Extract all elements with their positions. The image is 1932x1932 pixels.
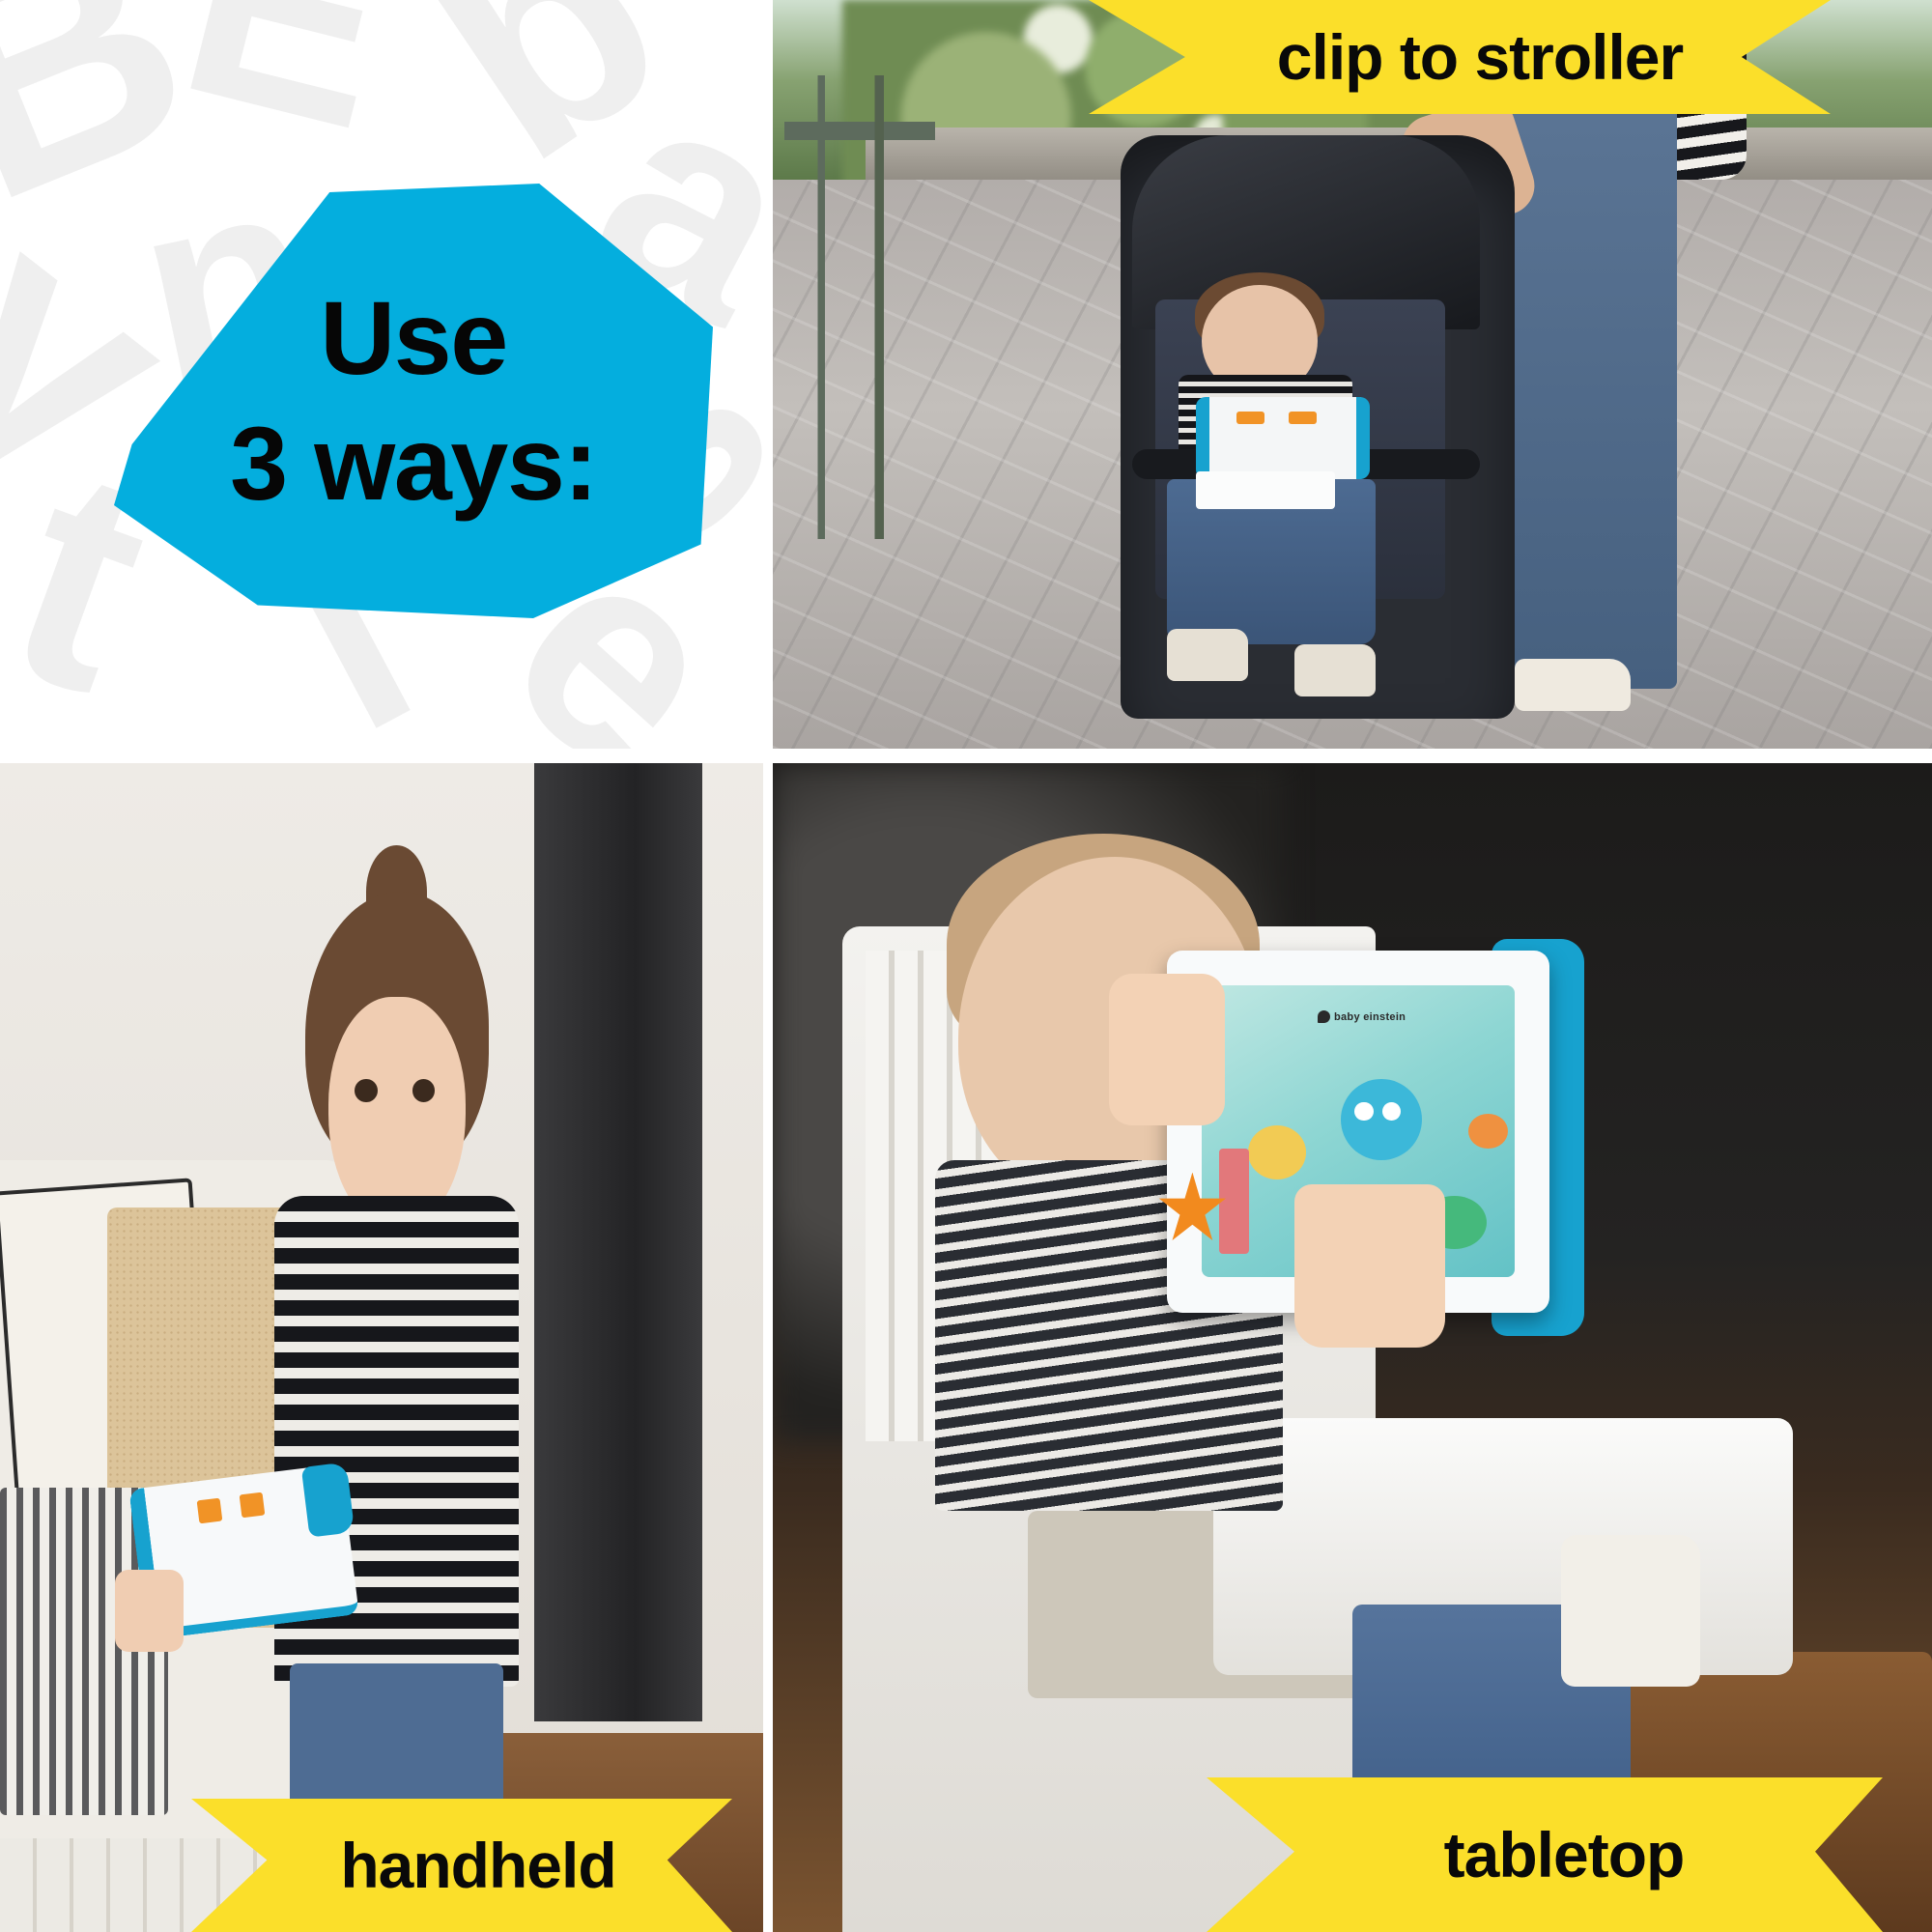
toddler-eye-left: [355, 1079, 378, 1102]
toy-stroller-clip: [1196, 471, 1335, 509]
octopus-eye-left: [1354, 1102, 1373, 1121]
screen-orange-fish-icon: [1468, 1114, 1508, 1149]
toddler-eye-right: [412, 1079, 436, 1102]
baby-shoe: [1561, 1535, 1700, 1687]
badge-handheld: handheld: [191, 1799, 732, 1932]
intro-callout: Use 3 ways:: [114, 184, 713, 618]
handheld-photo: [0, 763, 763, 1932]
toy-button-right: [239, 1492, 264, 1519]
baby-hand-on-screen: [1294, 1184, 1445, 1348]
collage-canvas: B E b a y n s t i e Use 3 ways:: [0, 0, 1932, 1932]
intro-headline: Use 3 ways:: [114, 184, 713, 618]
badge-clip-to-stroller: clip to stroller: [1089, 0, 1831, 114]
baby-einstein-logo-icon: [1318, 1010, 1330, 1023]
baby-hand-on-handle: [1109, 974, 1225, 1125]
toy-button-right: [1289, 412, 1317, 423]
badge-tabletop: tabletop: [1207, 1777, 1883, 1932]
toddler-shoe-right: [1294, 644, 1376, 696]
headline-line-2: 3 ways:: [230, 412, 597, 516]
screen-yellow-fish-icon: [1248, 1125, 1306, 1179]
toy-button-left: [197, 1498, 222, 1524]
toy-button-left: [1236, 412, 1264, 423]
panel-intro: B E b a y n s t i e Use 3 ways:: [0, 0, 763, 749]
dark-curtain: [534, 763, 702, 1721]
brand-name: baby einstein: [1334, 1011, 1406, 1023]
metal-railing: [784, 75, 935, 540]
product-toy: [1196, 397, 1370, 479]
adult-shoe: [1515, 659, 1631, 711]
brand-logo: baby einstein: [1318, 1002, 1434, 1032]
pattern-letter: E: [168, 0, 412, 146]
headline-line-1: Use: [320, 286, 507, 390]
screen-coral-icon: [1219, 1149, 1249, 1254]
tabletop-photo: baby einstein: [773, 763, 1932, 1932]
toddler-hand: [115, 1570, 184, 1652]
panel-handheld: [0, 763, 763, 1932]
panel-tabletop: baby einstein: [773, 763, 1932, 1932]
screen-octopus-icon: [1341, 1079, 1422, 1161]
toddler-shoe-left: [1167, 629, 1248, 681]
